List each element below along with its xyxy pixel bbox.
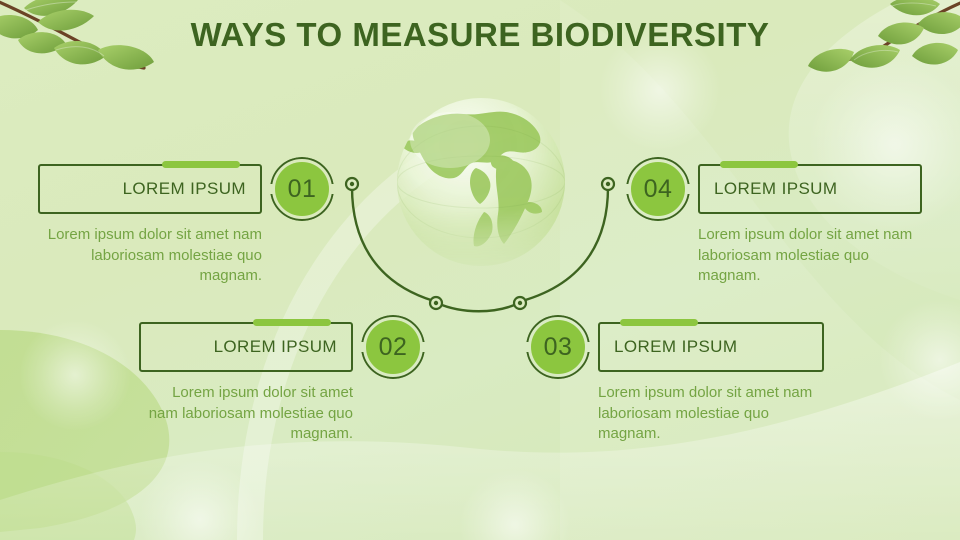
item-01-label: LOREM IPSUM <box>54 179 246 199</box>
item-04-accent-bar <box>720 161 798 168</box>
item-01[interactable]: LOREM IPSUM 01 Lorem ipsum dolor sit ame… <box>38 164 262 287</box>
item-02-description: Lorem ipsum dolor sit amet nam laboriosa… <box>139 383 353 445</box>
item-01-number: 01 <box>288 175 317 204</box>
item-03-accent-bar <box>620 319 698 326</box>
item-02-accent-bar <box>253 319 331 326</box>
slide-biodiversity-infographic: WAYS TO MEASURE BIODIVERSITY <box>0 0 960 540</box>
item-03-badge-disc: 03 <box>531 320 585 374</box>
item-03-label: LOREM IPSUM <box>614 337 808 357</box>
item-04-box[interactable]: LOREM IPSUM <box>698 164 922 214</box>
item-04-badge-disc: 04 <box>631 162 685 216</box>
item-04-badge[interactable]: 04 <box>626 157 690 221</box>
item-02-box[interactable]: LOREM IPSUM <box>139 322 353 372</box>
item-02-badge-disc: 02 <box>366 320 420 374</box>
globe-icon <box>388 94 574 280</box>
item-03[interactable]: LOREM IPSUM 03 Lorem ipsum dolor sit ame… <box>598 322 824 445</box>
page-title: WAYS TO MEASURE BIODIVERSITY <box>0 16 960 54</box>
item-01-badge[interactable]: 01 <box>270 157 334 221</box>
item-01-box[interactable]: LOREM IPSUM <box>38 164 262 214</box>
item-01-accent-bar <box>162 161 240 168</box>
item-02-badge[interactable]: 02 <box>361 315 425 379</box>
item-03-box[interactable]: LOREM IPSUM <box>598 322 824 372</box>
item-03-badge[interactable]: 03 <box>526 315 590 379</box>
item-02-number: 02 <box>379 333 408 362</box>
item-01-badge-disc: 01 <box>275 162 329 216</box>
item-04-number: 04 <box>644 175 673 204</box>
item-04-description: Lorem ipsum dolor sit amet nam laboriosa… <box>698 225 922 287</box>
item-03-description: Lorem ipsum dolor sit amet nam laboriosa… <box>598 383 824 445</box>
item-02-label: LOREM IPSUM <box>155 337 337 357</box>
item-02[interactable]: LOREM IPSUM 02 Lorem ipsum dolor sit ame… <box>139 322 353 445</box>
item-03-number: 03 <box>544 333 573 362</box>
item-04[interactable]: LOREM IPSUM 04 Lorem ipsum dolor sit ame… <box>698 164 922 287</box>
item-01-description: Lorem ipsum dolor sit amet nam laboriosa… <box>38 225 262 287</box>
item-04-label: LOREM IPSUM <box>714 179 906 199</box>
globe-illustration <box>388 94 574 280</box>
